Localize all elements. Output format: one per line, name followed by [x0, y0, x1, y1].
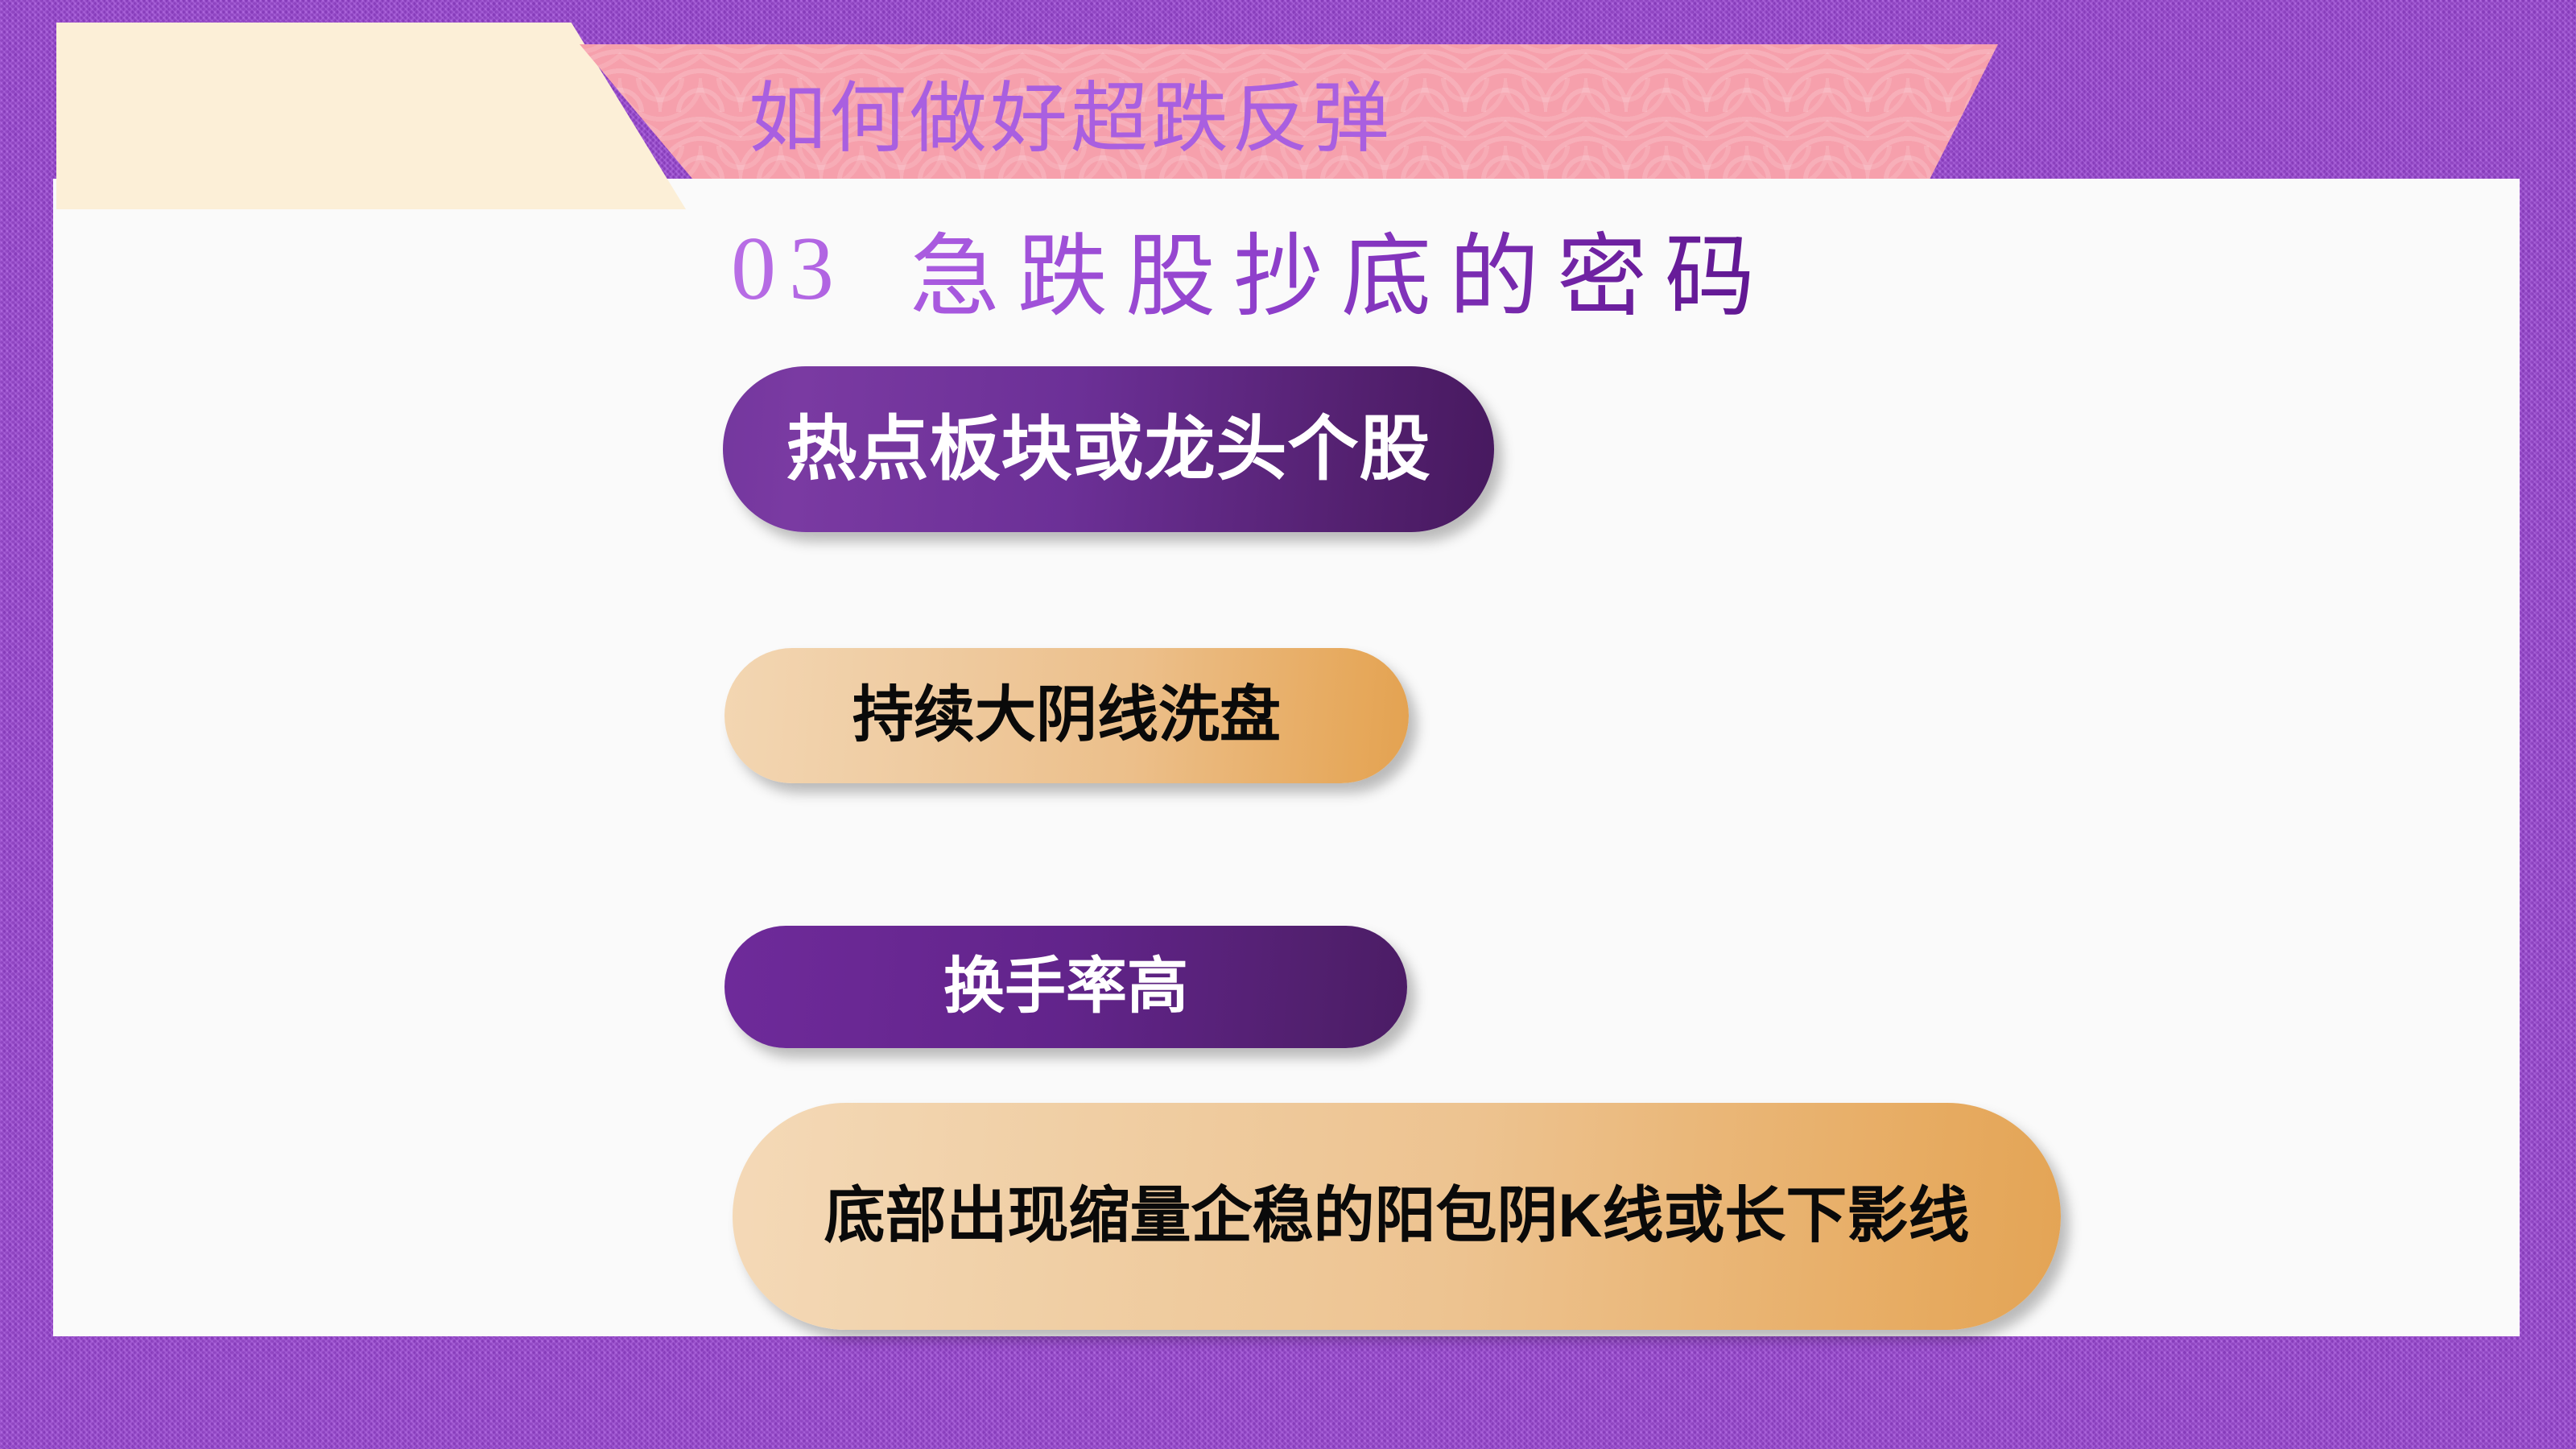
slide-canvas: 如何做好超跌反弹 03 急跌股抄底的密码 热点板块或龙头个股 持续大阴线洗盘 换… — [0, 0, 2576, 1449]
list-item[interactable]: 热点板块或龙头个股 — [723, 366, 1494, 532]
banner-title: 如何做好超跌反弹 — [749, 47, 1473, 175]
pill-label: 底部出现缩量企稳的阳包阴K线或长下影线 — [824, 1182, 1970, 1250]
list-item[interactable]: 底部出现缩量企稳的阳包阴K线或长下影线 — [733, 1103, 2061, 1330]
pill-label: 热点板块或龙头个股 — [786, 410, 1430, 489]
section-title-text: 急跌股抄底的密码 — [910, 204, 1773, 334]
page-title: 03 急跌股抄底的密码 — [731, 216, 1773, 322]
list-item[interactable]: 换手率高 — [724, 926, 1407, 1048]
section-number: 03 — [731, 217, 847, 321]
pill-label: 持续大阴线洗盘 — [852, 681, 1281, 749]
pill-label: 换手率高 — [943, 952, 1188, 1021]
list-item[interactable]: 持续大阴线洗盘 — [724, 648, 1409, 783]
